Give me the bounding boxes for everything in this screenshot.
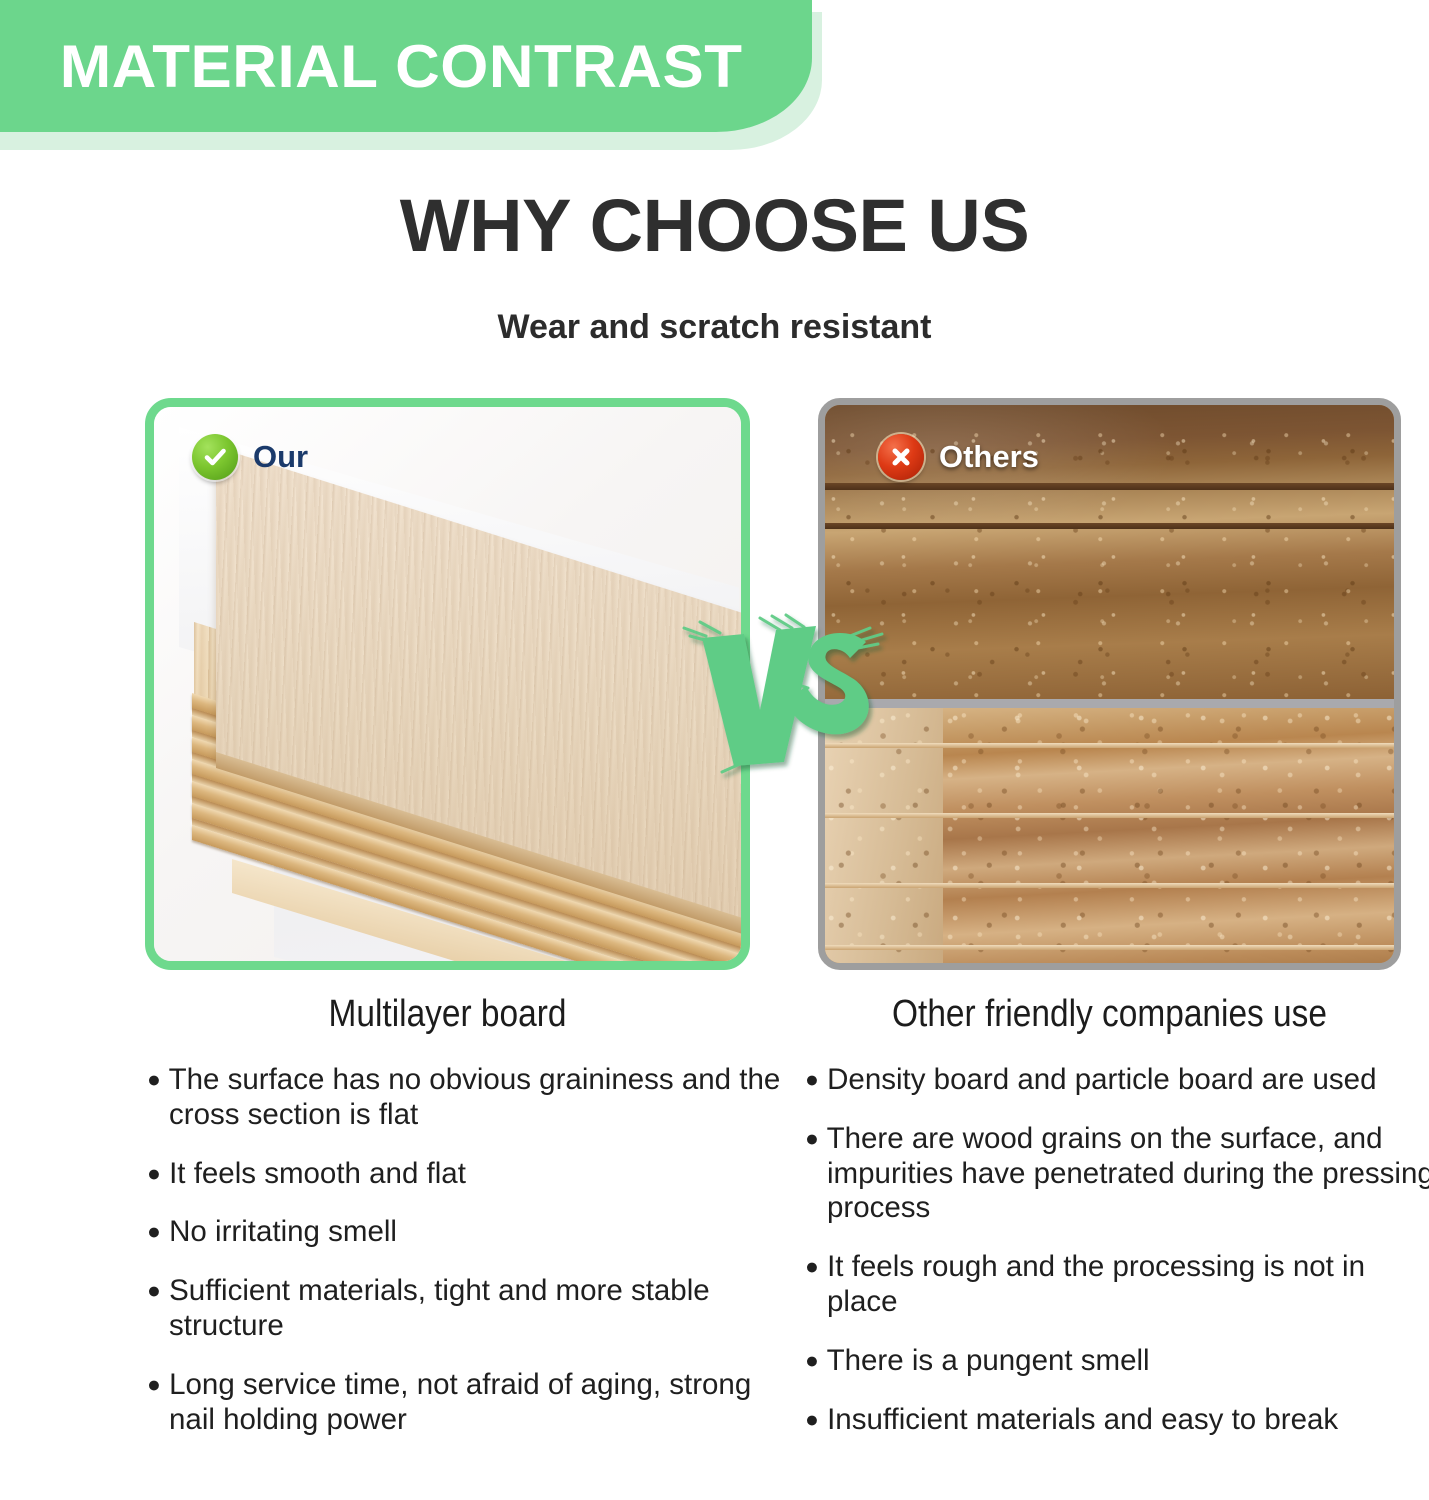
comparison-panel-others (818, 398, 1401, 970)
bullet-marker: ● (805, 1347, 819, 1373)
bullet-text: Sufficient materials, tight and more sta… (169, 1274, 710, 1342)
others-badge: Others (878, 434, 1039, 480)
bullet-marker: ● (147, 1066, 161, 1092)
vs-icon (700, 606, 870, 771)
ours-badge-label: Our (253, 439, 308, 475)
bullet-text: Insufficient materials and easy to break (827, 1403, 1338, 1436)
bullet-text: There is a pungent smell (827, 1344, 1150, 1377)
right-board-edge (825, 883, 1394, 888)
bullet-item: ● Long service time, not afraid of aging… (133, 1368, 783, 1438)
bullet-text: Density board and particle board are use… (827, 1063, 1376, 1096)
bullet-text: It feels smooth and flat (169, 1157, 466, 1190)
right-board-shadow-strip (825, 483, 1394, 490)
bullet-marker: ● (147, 1371, 161, 1397)
check-circle-icon (192, 434, 238, 480)
bullet-text: Long service time, not afraid of aging, … (169, 1368, 751, 1436)
caption-ours: Multilayer board (181, 993, 713, 1036)
bullet-marker: ● (805, 1125, 819, 1151)
bullet-item: ● There is a pungent smell (805, 1344, 1429, 1379)
bullet-text: It feels rough and the processing is not… (827, 1250, 1365, 1318)
bullet-item: ● It feels rough and the processing is n… (805, 1250, 1429, 1320)
comparison-panel-ours (145, 398, 750, 970)
bullet-marker: ● (805, 1066, 819, 1092)
page-title: WHY CHOOSE US (0, 183, 1429, 268)
right-board-edge (825, 813, 1394, 818)
right-board-edge (825, 743, 1394, 748)
bullet-marker: ● (147, 1218, 161, 1244)
bullet-item: ● There are wood grains on the surface, … (805, 1122, 1429, 1226)
bullet-item: ● Density board and particle board are u… (805, 1063, 1429, 1098)
page-subtitle: Wear and scratch resistant (0, 308, 1429, 347)
bullet-item: ● Insufficient materials and easy to bre… (805, 1403, 1429, 1438)
bullet-text: The surface has no obvious graininess an… (169, 1063, 781, 1131)
bullet-marker: ● (805, 1406, 819, 1432)
bullet-item: ● Sufficient materials, tight and more s… (133, 1274, 783, 1344)
banner-shape: MATERIAL CONTRAST (0, 0, 812, 132)
caption-others: Other friendly companies use (853, 993, 1366, 1036)
right-board-edge (825, 945, 1394, 950)
banner-title: MATERIAL CONTRAST (0, 32, 743, 101)
bullet-marker: ● (805, 1253, 819, 1279)
bullet-text: There are wood grains on the surface, an… (827, 1122, 1429, 1225)
bullet-item: ● The surface has no obvious graininess … (133, 1063, 783, 1133)
bullet-item: ● It feels smooth and flat (133, 1157, 783, 1192)
bullet-marker: ● (147, 1277, 161, 1303)
x-circle-icon (878, 434, 924, 480)
bullet-marker: ● (147, 1160, 161, 1186)
right-photo-divider (825, 699, 1394, 708)
ours-badge: Our (192, 434, 308, 480)
bullet-text: No irritating smell (169, 1215, 397, 1248)
right-board-shadow-strip (825, 523, 1394, 529)
bullet-item: ● No irritating smell (133, 1215, 783, 1250)
bullets-others: ● Density board and particle board are u… (805, 1063, 1429, 1461)
bullets-ours: ● The surface has no obvious graininess … (133, 1063, 783, 1461)
header-banner: MATERIAL CONTRAST (0, 0, 900, 160)
others-badge-label: Others (939, 439, 1039, 475)
